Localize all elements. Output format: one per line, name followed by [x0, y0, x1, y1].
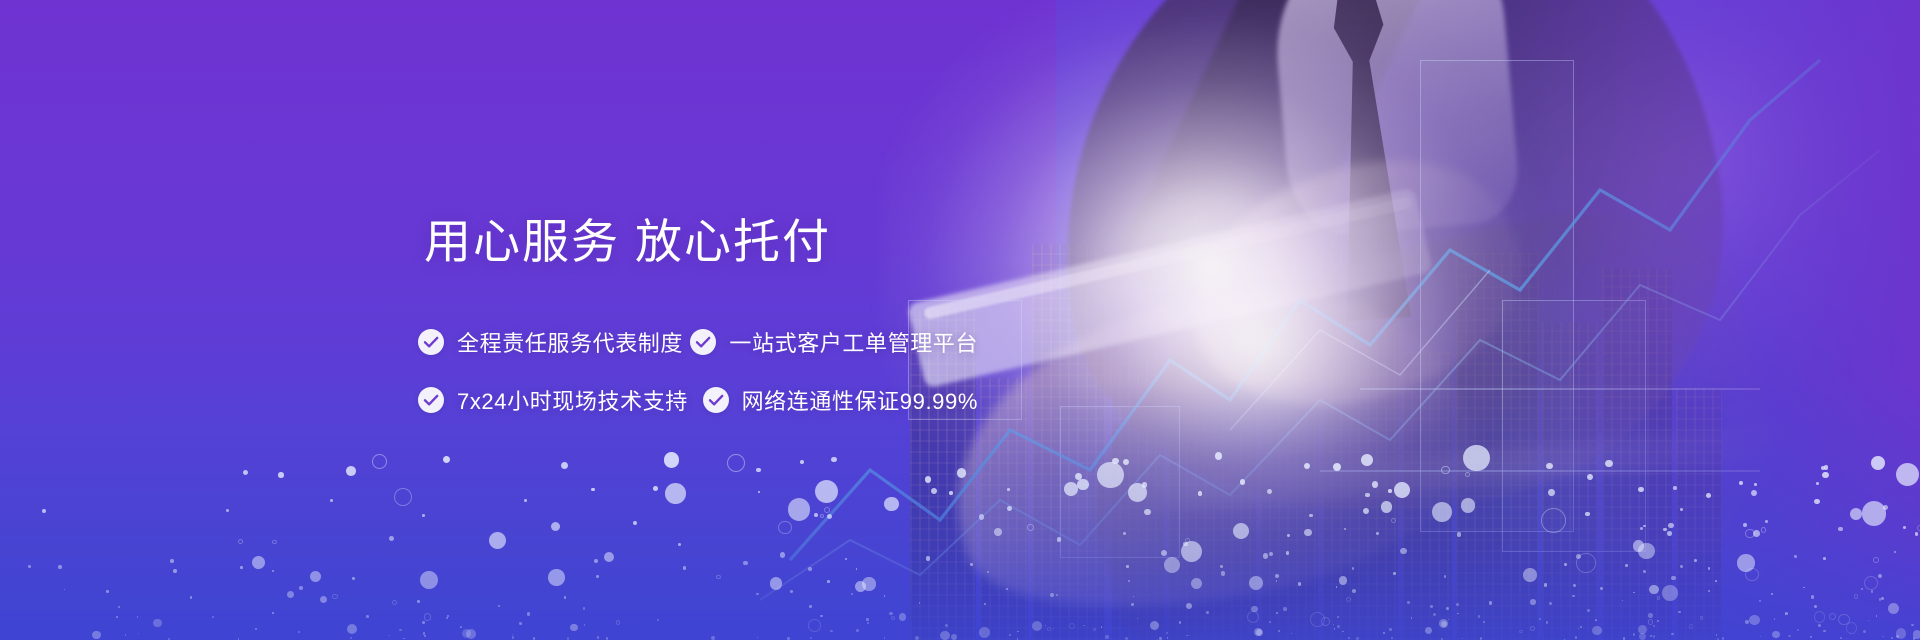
check-circle-icon [418, 329, 444, 355]
check-circle-icon [690, 329, 716, 355]
feature-item-service-representative[interactable]: 全程责任服务代表制度 [418, 326, 690, 358]
feature-row: 7x24小时现场技术支持 网络连通性保证99.99% [418, 384, 978, 416]
check-circle-icon [703, 387, 729, 413]
feature-item-network-uptime[interactable]: 网络连通性保证99.99% [703, 384, 978, 416]
feature-item-onsite-support[interactable]: 7x24小时现场技术支持 [418, 384, 703, 416]
feature-list: 全程责任服务代表制度 一站式客户工单管理平台 [418, 326, 978, 442]
check-circle-icon [418, 387, 444, 413]
feature-row: 全程责任服务代表制度 一站式客户工单管理平台 [418, 326, 978, 358]
feature-label: 7x24小时现场技术支持 [457, 384, 688, 416]
page-title: 用心服务 放心托付 [424, 214, 831, 270]
banner-content: 用心服务 放心托付 全程责任服务代表制度 [0, 0, 1920, 640]
feature-label: 一站式客户工单管理平台 [729, 326, 978, 358]
feature-label: 全程责任服务代表制度 [457, 326, 683, 358]
feature-label: 网络连通性保证99.99% [742, 384, 978, 416]
feature-item-ticket-platform[interactable]: 一站式客户工单管理平台 [690, 326, 978, 358]
banner-hero: 用心服务 放心托付 全程责任服务代表制度 [0, 0, 1920, 640]
